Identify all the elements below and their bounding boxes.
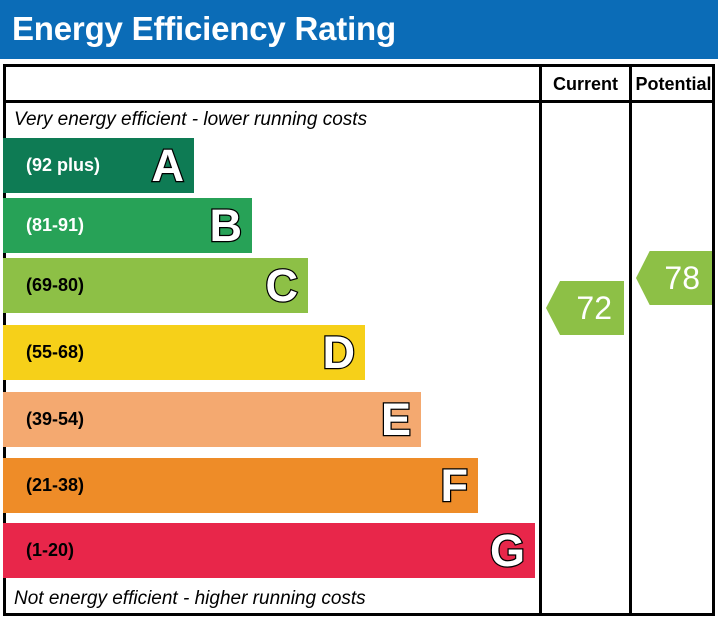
page-title: Energy Efficiency Rating (12, 8, 396, 50)
column-divider-current (539, 64, 542, 616)
band-a-letter: A (152, 138, 185, 193)
band-e-range: (39-54) (26, 392, 84, 447)
band-f: (21-38) F (3, 458, 478, 513)
band-c-range: (69-80) (26, 258, 84, 313)
band-b: (81-91) B (3, 198, 252, 253)
band-g-letter: G (490, 523, 525, 578)
column-header-current: Current (542, 70, 629, 98)
potential-rating-arrow: 78 (636, 251, 712, 305)
band-a: (92 plus) A (3, 138, 194, 193)
band-f-range: (21-38) (26, 458, 84, 513)
caption-top: Very energy efficient - lower running co… (14, 109, 367, 131)
potential-rating-value: 78 (664, 251, 700, 305)
band-d-letter: D (323, 325, 356, 380)
band-b-letter: B (210, 198, 243, 253)
column-header-potential: Potential (632, 70, 715, 98)
caption-bottom: Not energy efficient - higher running co… (14, 588, 366, 610)
band-c-letter: C (266, 258, 299, 313)
band-f-letter: F (441, 458, 469, 513)
band-g: (1-20) G (3, 523, 535, 578)
current-rating-arrow: 72 (546, 281, 624, 335)
band-b-range: (81-91) (26, 198, 84, 253)
band-d: (55-68) D (3, 325, 365, 380)
column-divider-potential (629, 64, 632, 616)
band-c: (69-80) C (3, 258, 308, 313)
title-banner: Energy Efficiency Rating (0, 0, 718, 59)
band-e-letter: E (381, 392, 411, 447)
band-d-range: (55-68) (26, 325, 84, 380)
band-g-range: (1-20) (26, 523, 74, 578)
band-a-range: (92 plus) (26, 138, 100, 193)
current-rating-value: 72 (576, 281, 612, 335)
header-row-divider (3, 100, 715, 103)
band-e: (39-54) E (3, 392, 421, 447)
energy-efficiency-rating-chart: Energy Efficiency Rating Current Potenti… (0, 0, 718, 619)
